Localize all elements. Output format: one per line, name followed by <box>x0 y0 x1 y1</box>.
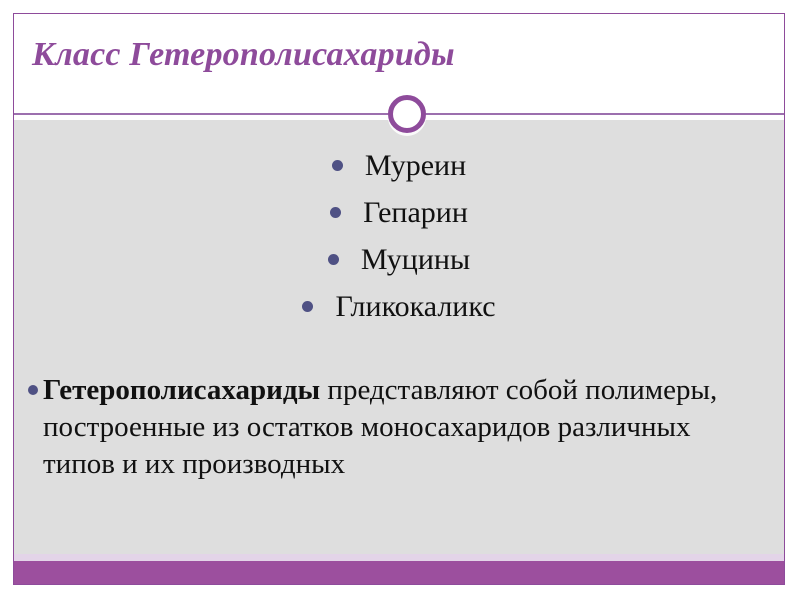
list-item-label: Муцины <box>361 243 470 276</box>
list-item: Гепарин <box>14 189 784 236</box>
bullet-dot-icon <box>330 207 341 218</box>
bullet-dot-icon <box>332 160 343 171</box>
paragraph-row: Гетерополисахариды представляют собой по… <box>28 372 743 483</box>
footer-accent-bar <box>14 561 784 585</box>
content-body: Муреин Гепарин Муцины Гликокаликс Гетеро… <box>14 120 784 560</box>
bullet-dot-icon <box>28 385 38 395</box>
list-item-label: Гепарин <box>363 196 468 229</box>
slide: Класс Гетерополисахариды Муреин Гепарин … <box>13 13 785 585</box>
footer-light-stripe <box>14 554 784 561</box>
paragraph-text: Гетерополисахариды представляют собой по… <box>43 372 743 483</box>
circle-ring-icon <box>388 95 426 133</box>
list-item-label: Муреин <box>365 149 466 182</box>
page-title: Класс Гетерополисахариды <box>32 36 455 74</box>
bullet-list: Муреин Гепарин Муцины Гликокаликс <box>14 142 784 330</box>
bullet-dot-icon <box>328 254 339 265</box>
list-item: Гликокаликс <box>14 283 784 330</box>
list-item: Муреин <box>14 142 784 189</box>
list-item: Муцины <box>14 236 784 283</box>
list-item-label: Гликокаликс <box>335 290 495 323</box>
paragraph-block: Гетерополисахариды представляют собой по… <box>28 372 743 483</box>
paragraph-lead-term: Гетерополисахариды <box>43 374 320 406</box>
bullet-dot-icon <box>302 301 313 312</box>
